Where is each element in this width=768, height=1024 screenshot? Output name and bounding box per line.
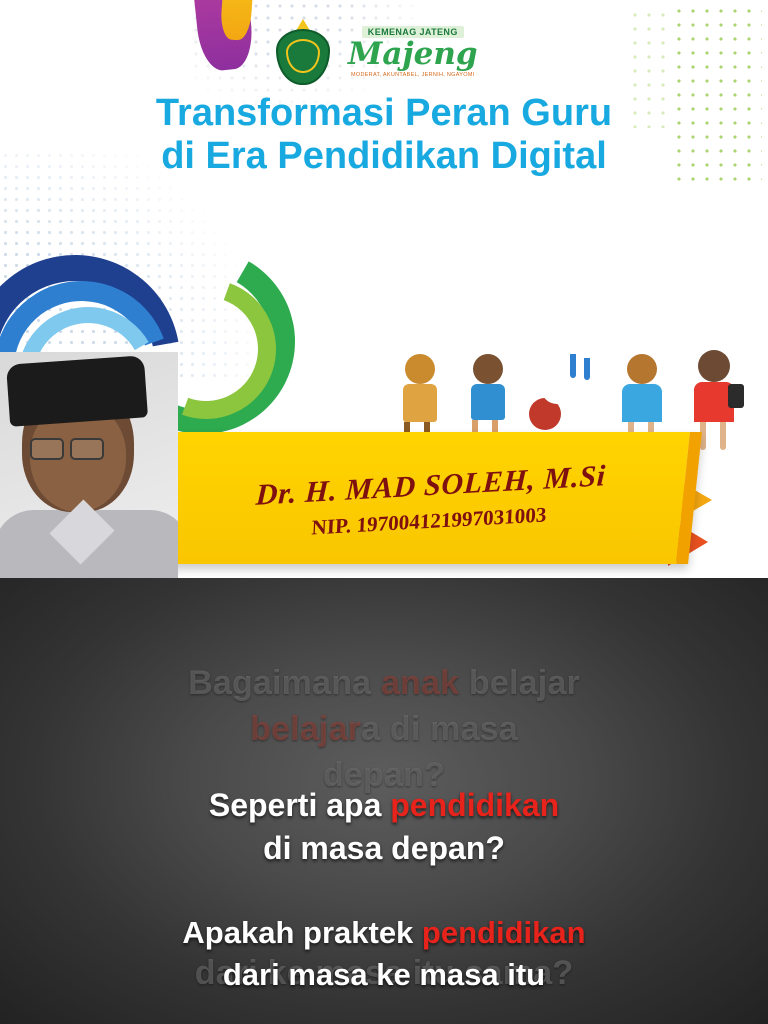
speaker-photo: [0, 352, 178, 578]
ghost-text-highlight: anak: [381, 664, 459, 702]
eyeglasses-right: [70, 438, 104, 460]
question-text: Seperti apa: [209, 787, 390, 823]
tablet-icon: [728, 384, 744, 408]
ghost-text-line-2: belajara di masa: [0, 710, 768, 749]
presentation-page: KEMENAG JATENG Majeng MODERAT, AKUNTABEL…: [0, 0, 768, 1024]
question-text: Apakah praktek: [182, 915, 422, 950]
majeng-wordmark: KEMENAG JATENG Majeng MODERAT, AKUNTABEL…: [348, 26, 478, 78]
ghost-text-highlight: belajar: [250, 710, 361, 748]
question-two: Apakah praktek pendidikan dari masa ke m…: [0, 912, 768, 996]
title-line-2: di Era Pendidikan Digital: [0, 135, 768, 178]
ghost-text: a di masa: [361, 710, 518, 748]
songkok-cap: [6, 355, 148, 426]
question-two-line-1: Apakah praktek pendidikan: [0, 912, 768, 954]
page-title: Transformasi Peran Guru di Era Pendidika…: [0, 92, 768, 177]
question-one: Seperti apa pendidikan di masa depan?: [0, 784, 768, 870]
question-highlight: pendidikan: [422, 915, 586, 950]
question-one-line-1: Seperti apa pendidikan: [0, 784, 768, 827]
title-line-1: Transformasi Peran Guru: [156, 92, 612, 134]
speaker-nip: NIP. 197004121997031003: [311, 502, 547, 540]
question-slide: Bagaimana anak belajar belajara di masa …: [0, 578, 768, 1024]
majeng-tagline: MODERAT, AKUNTABEL, JERNIH, NGAYOMI: [351, 72, 475, 78]
ghost-text: belajar: [459, 664, 580, 702]
kemenag-logo: KEMENAG JATENG Majeng MODERAT, AKUNTABEL…: [272, 12, 502, 92]
question-two-line-2: dari masa ke masa itu: [0, 954, 768, 996]
question-highlight: pendidikan: [390, 787, 559, 823]
shield-icon: [276, 29, 330, 85]
title-slide: KEMENAG JATENG Majeng MODERAT, AKUNTABEL…: [0, 0, 768, 578]
eyeglasses-left: [30, 438, 64, 460]
majeng-brand-text: Majeng: [348, 39, 478, 70]
kemenag-emblem-icon: [272, 17, 334, 87]
ghost-text: Bagaimana: [188, 664, 381, 702]
question-one-line-2: di masa depan?: [0, 827, 768, 870]
speaker-name: Dr. H. MAD SOLEH, M.Si: [255, 459, 606, 512]
ghost-text-line-1: Bagaimana anak belajar: [0, 664, 768, 703]
